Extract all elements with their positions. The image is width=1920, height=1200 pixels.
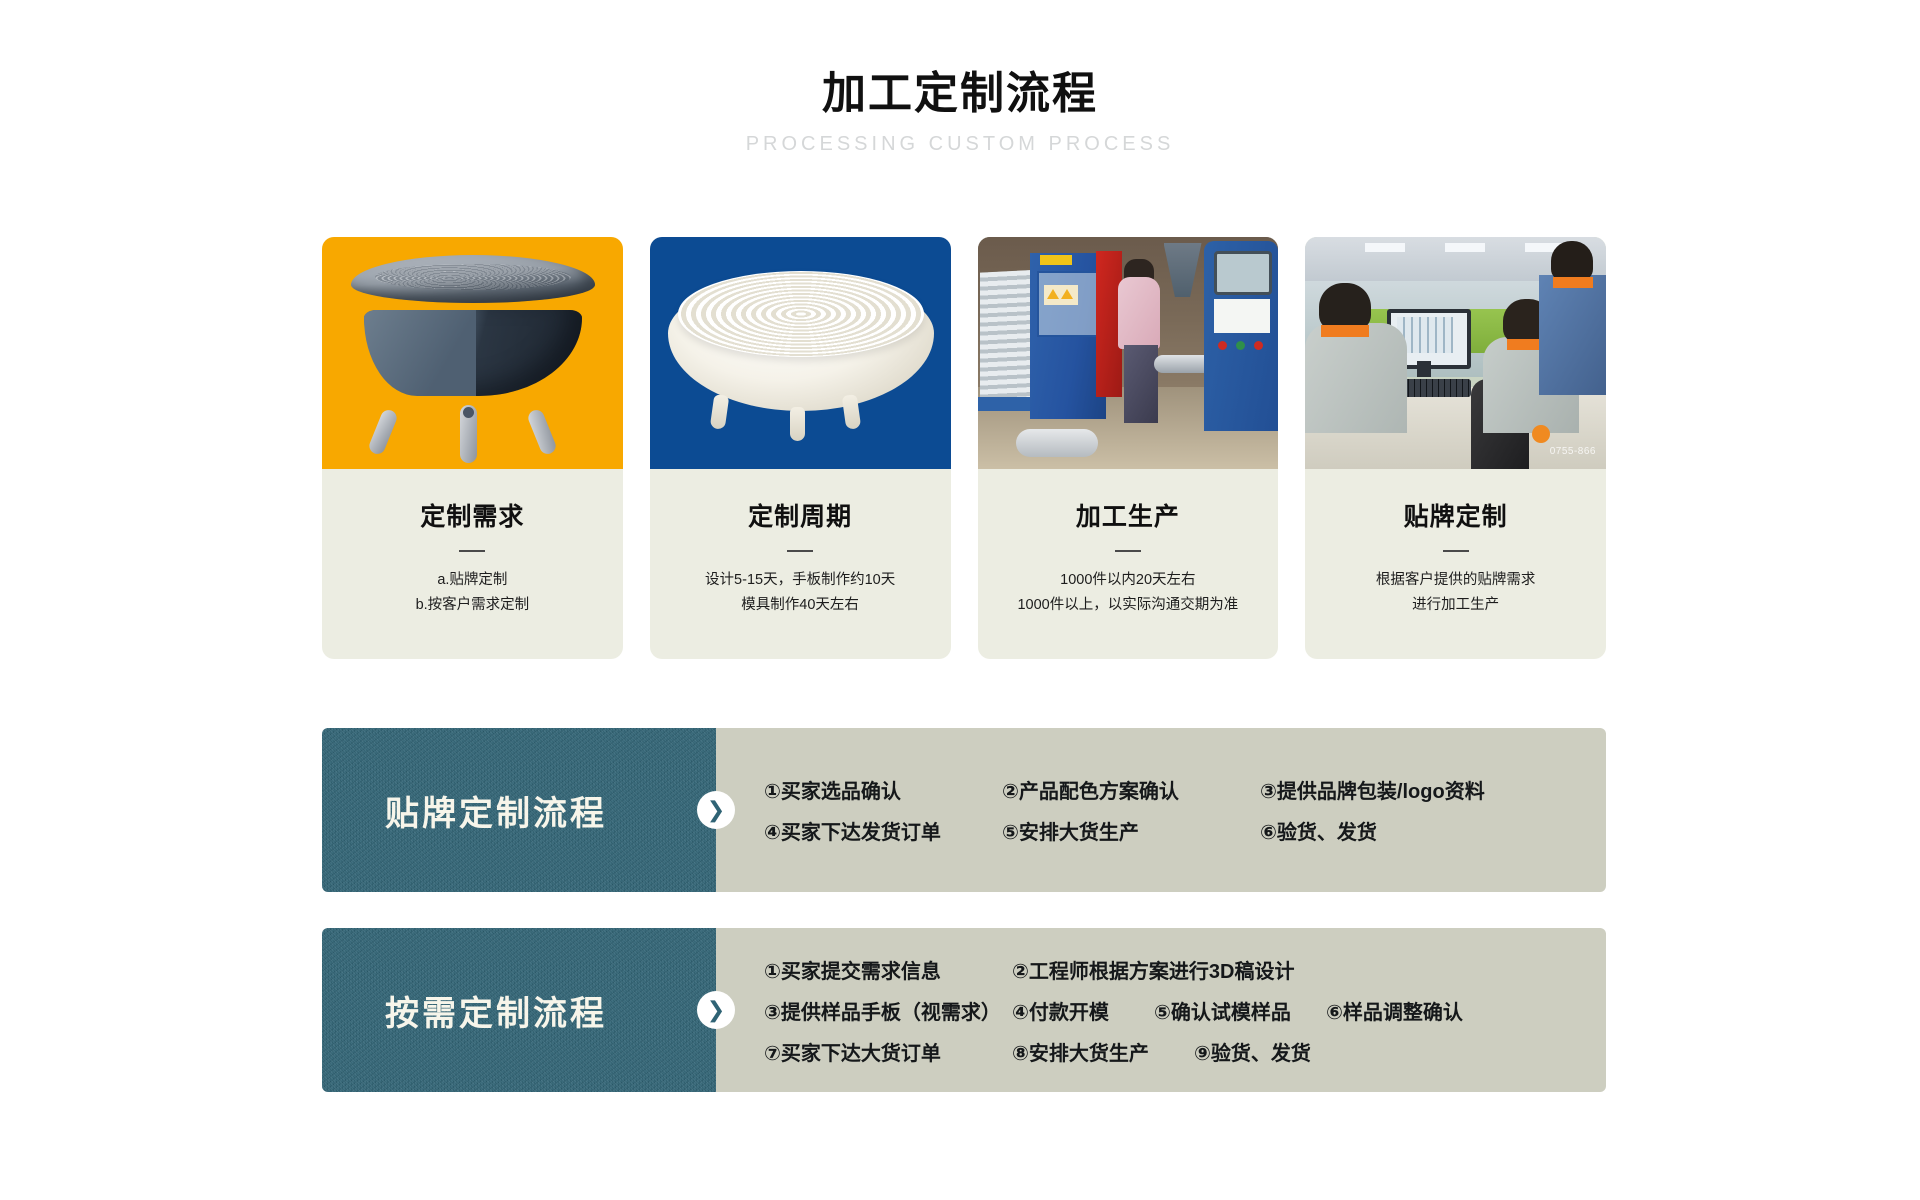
- chevron-right-icon[interactable]: ❯: [697, 791, 735, 829]
- oem-process-label: 贴牌定制流程: [385, 786, 653, 835]
- watermark-logo-icon: [1532, 425, 1550, 443]
- card-3-desc-line-2: 1000件以上，以实际沟通交期为准: [978, 593, 1279, 618]
- card-3-title: 加工生产: [978, 497, 1279, 533]
- card-3-body: 加工生产 1000件以内20天左右 1000件以上，以实际沟通交期为准: [978, 469, 1279, 659]
- ondemand-steps-row-2: ③提供样品手板（视需求） ④付款开模 ⑤确认试模样品 ⑥样品调整确认: [764, 996, 1606, 1025]
- worker-legs: [1124, 345, 1158, 423]
- ondemand-steps-row-3: ⑦买家下达大货订单 ⑧安排大货生产 ⑨验货、发货: [764, 1037, 1606, 1066]
- card-4-body: 贴牌定制 根据客户提供的贴牌需求 进行加工生产: [1305, 469, 1606, 659]
- molded-product-on-floor: [1016, 429, 1098, 457]
- ondemand-process-banner: 按需定制流程 ❯ ①买家提交需求信息 ②工程师根据方案进行3D稿设计 ③提供样品…: [322, 928, 1606, 1092]
- watermark-phone: 0755-866: [1550, 446, 1596, 457]
- ondemand-process-label: 按需定制流程: [385, 986, 653, 1035]
- process-card-4[interactable]: 0755-866 贴牌定制 根据客户提供的贴牌需求 进行加工生产: [1305, 237, 1606, 659]
- product-bowl-shape: [364, 310, 582, 396]
- oem-step-2: ②产品配色方案确认: [1002, 775, 1260, 804]
- ondemand-step-4: ④付款开模: [1012, 996, 1154, 1025]
- product-lid-shape: [351, 255, 595, 303]
- product-leg-left: [367, 408, 399, 457]
- process-card-1[interactable]: 定制需求 a.贴牌定制 b.按客户需求定制: [322, 237, 623, 659]
- ondemand-process-steps: ①买家提交需求信息 ②工程师根据方案进行3D稿设计 ③提供样品手板（视需求） ④…: [716, 928, 1606, 1092]
- process-card-list: 定制需求 a.贴牌定制 b.按客户需求定制 定制周期 设计5-15天，手板制作约…: [322, 237, 1606, 659]
- card-1-desc: a.贴牌定制 b.按客户需求定制: [322, 568, 623, 618]
- card-2-desc: 设计5-15天，手板制作约10天 模具制作40天左右: [650, 568, 951, 618]
- card-2-divider: [787, 550, 813, 552]
- ondemand-step-3: ③提供样品手板（视需求）: [764, 996, 1012, 1025]
- control-button-1: [1218, 341, 1227, 350]
- oem-process-banner: 贴牌定制流程 ❯ ①买家选品确认 ②产品配色方案确认 ③提供品牌包装/logo资…: [322, 728, 1606, 892]
- ondemand-step-9: ⑨验货、发货: [1194, 1037, 1311, 1066]
- ondemand-step-7: ⑦买家下达大货订单: [764, 1037, 1012, 1066]
- card-1-divider: [459, 550, 485, 552]
- control-panel-screen: [1214, 251, 1272, 295]
- control-panel-display: [1214, 299, 1270, 333]
- person-3-collar: [1553, 277, 1593, 288]
- card-2-desc-line-1: 设计5-15天，手板制作约10天: [650, 568, 951, 593]
- card-2-desc-line-2: 模具制作40天左右: [650, 593, 951, 618]
- warning-sign-icon: [1044, 285, 1078, 305]
- ondemand-step-1: ①买家提交需求信息: [764, 955, 1012, 984]
- product-leg-right: [526, 408, 558, 457]
- ondemand-step-8: ⑧安排大货生产: [1012, 1037, 1194, 1066]
- prototype-top-shape: [678, 271, 924, 357]
- oem-steps-row-2: ④买家下达发货订单 ⑤安排大货生产 ⑥验货、发货: [764, 816, 1606, 845]
- control-button-2: [1236, 341, 1245, 350]
- card-1-desc-line-1: a.贴牌定制: [322, 568, 623, 593]
- card-4-divider: [1443, 550, 1469, 552]
- process-card-3[interactable]: 加工生产 1000件以内20天左右 1000件以上，以实际沟通交期为准: [978, 237, 1279, 659]
- ceiling-light-2: [1445, 243, 1485, 252]
- ondemand-step-5: ⑤确认试模样品: [1154, 996, 1326, 1025]
- person-1-collar: [1321, 325, 1369, 337]
- card-4-desc-line-1: 根据客户提供的贴牌需求: [1305, 568, 1606, 593]
- card-4-image: 0755-866: [1305, 237, 1606, 469]
- card-1-body: 定制需求 a.贴牌定制 b.按客户需求定制: [322, 469, 623, 659]
- card-3-desc-line-1: 1000件以内20天左右: [978, 568, 1279, 593]
- card-3-image: [978, 237, 1279, 469]
- card-1-title: 定制需求: [322, 497, 623, 533]
- factory-machine-label: [1040, 255, 1072, 265]
- person-3-body: [1539, 275, 1606, 395]
- card-2-image: [650, 237, 951, 469]
- card-1-desc-line-2: b.按客户需求定制: [322, 593, 623, 618]
- oem-step-1: ①买家选品确认: [764, 775, 1002, 804]
- worker-shirt: [1118, 277, 1160, 349]
- card-4-desc: 根据客户提供的贴牌需求 进行加工生产: [1305, 568, 1606, 618]
- ceiling-light-1: [1365, 243, 1405, 252]
- page-header: 加工定制流程 PROCESSING CUSTOM PROCESS: [0, 68, 1920, 156]
- ondemand-steps-row-1: ①买家提交需求信息 ②工程师根据方案进行3D稿设计: [764, 955, 1606, 984]
- oem-steps-row-1: ①买家选品确认 ②产品配色方案确认 ③提供品牌包装/logo资料: [764, 775, 1606, 804]
- oem-step-4: ④买家下达发货订单: [764, 816, 1002, 845]
- process-card-2[interactable]: 定制周期 设计5-15天，手板制作约10天 模具制作40天左右: [650, 237, 951, 659]
- card-3-desc: 1000件以内20天左右 1000件以上，以实际沟通交期为准: [978, 568, 1279, 618]
- control-button-3: [1254, 341, 1263, 350]
- chevron-right-icon[interactable]: ❯: [697, 991, 735, 1029]
- oem-step-3: ③提供品牌包装/logo资料: [1260, 775, 1485, 804]
- page-title: 加工定制流程: [0, 68, 1920, 121]
- monitor-stand: [1417, 361, 1431, 377]
- person-1-head: [1319, 283, 1371, 331]
- ondemand-process-label-panel: 按需定制流程 ❯: [322, 928, 716, 1092]
- card-4-desc-line-2: 进行加工生产: [1305, 593, 1606, 618]
- prototype-foot-center: [790, 407, 805, 441]
- card-2-body: 定制周期 设计5-15天，手板制作约10天 模具制作40天左右: [650, 469, 951, 659]
- oem-process-steps: ①买家选品确认 ②产品配色方案确认 ③提供品牌包装/logo资料 ④买家下达发货…: [716, 728, 1606, 892]
- prototype-foot-left: [709, 394, 729, 430]
- card-3-divider: [1115, 550, 1141, 552]
- page-subtitle: PROCESSING CUSTOM PROCESS: [0, 133, 1920, 156]
- card-1-image: [322, 237, 623, 469]
- card-2-title: 定制周期: [650, 497, 951, 533]
- oem-step-5: ⑤安排大货生产: [1002, 816, 1260, 845]
- keyboard-icon: [1397, 379, 1471, 397]
- ondemand-step-2: ②工程师根据方案进行3D稿设计: [1012, 955, 1295, 984]
- person-1-body: [1305, 323, 1407, 433]
- oem-process-label-panel: 贴牌定制流程 ❯: [322, 728, 716, 892]
- oem-step-6: ⑥验货、发货: [1260, 816, 1377, 845]
- product-leg-center: [460, 405, 477, 463]
- ondemand-step-6: ⑥样品调整确认: [1326, 996, 1463, 1025]
- card-4-title: 贴牌定制: [1305, 497, 1606, 533]
- person-3-head: [1551, 241, 1593, 281]
